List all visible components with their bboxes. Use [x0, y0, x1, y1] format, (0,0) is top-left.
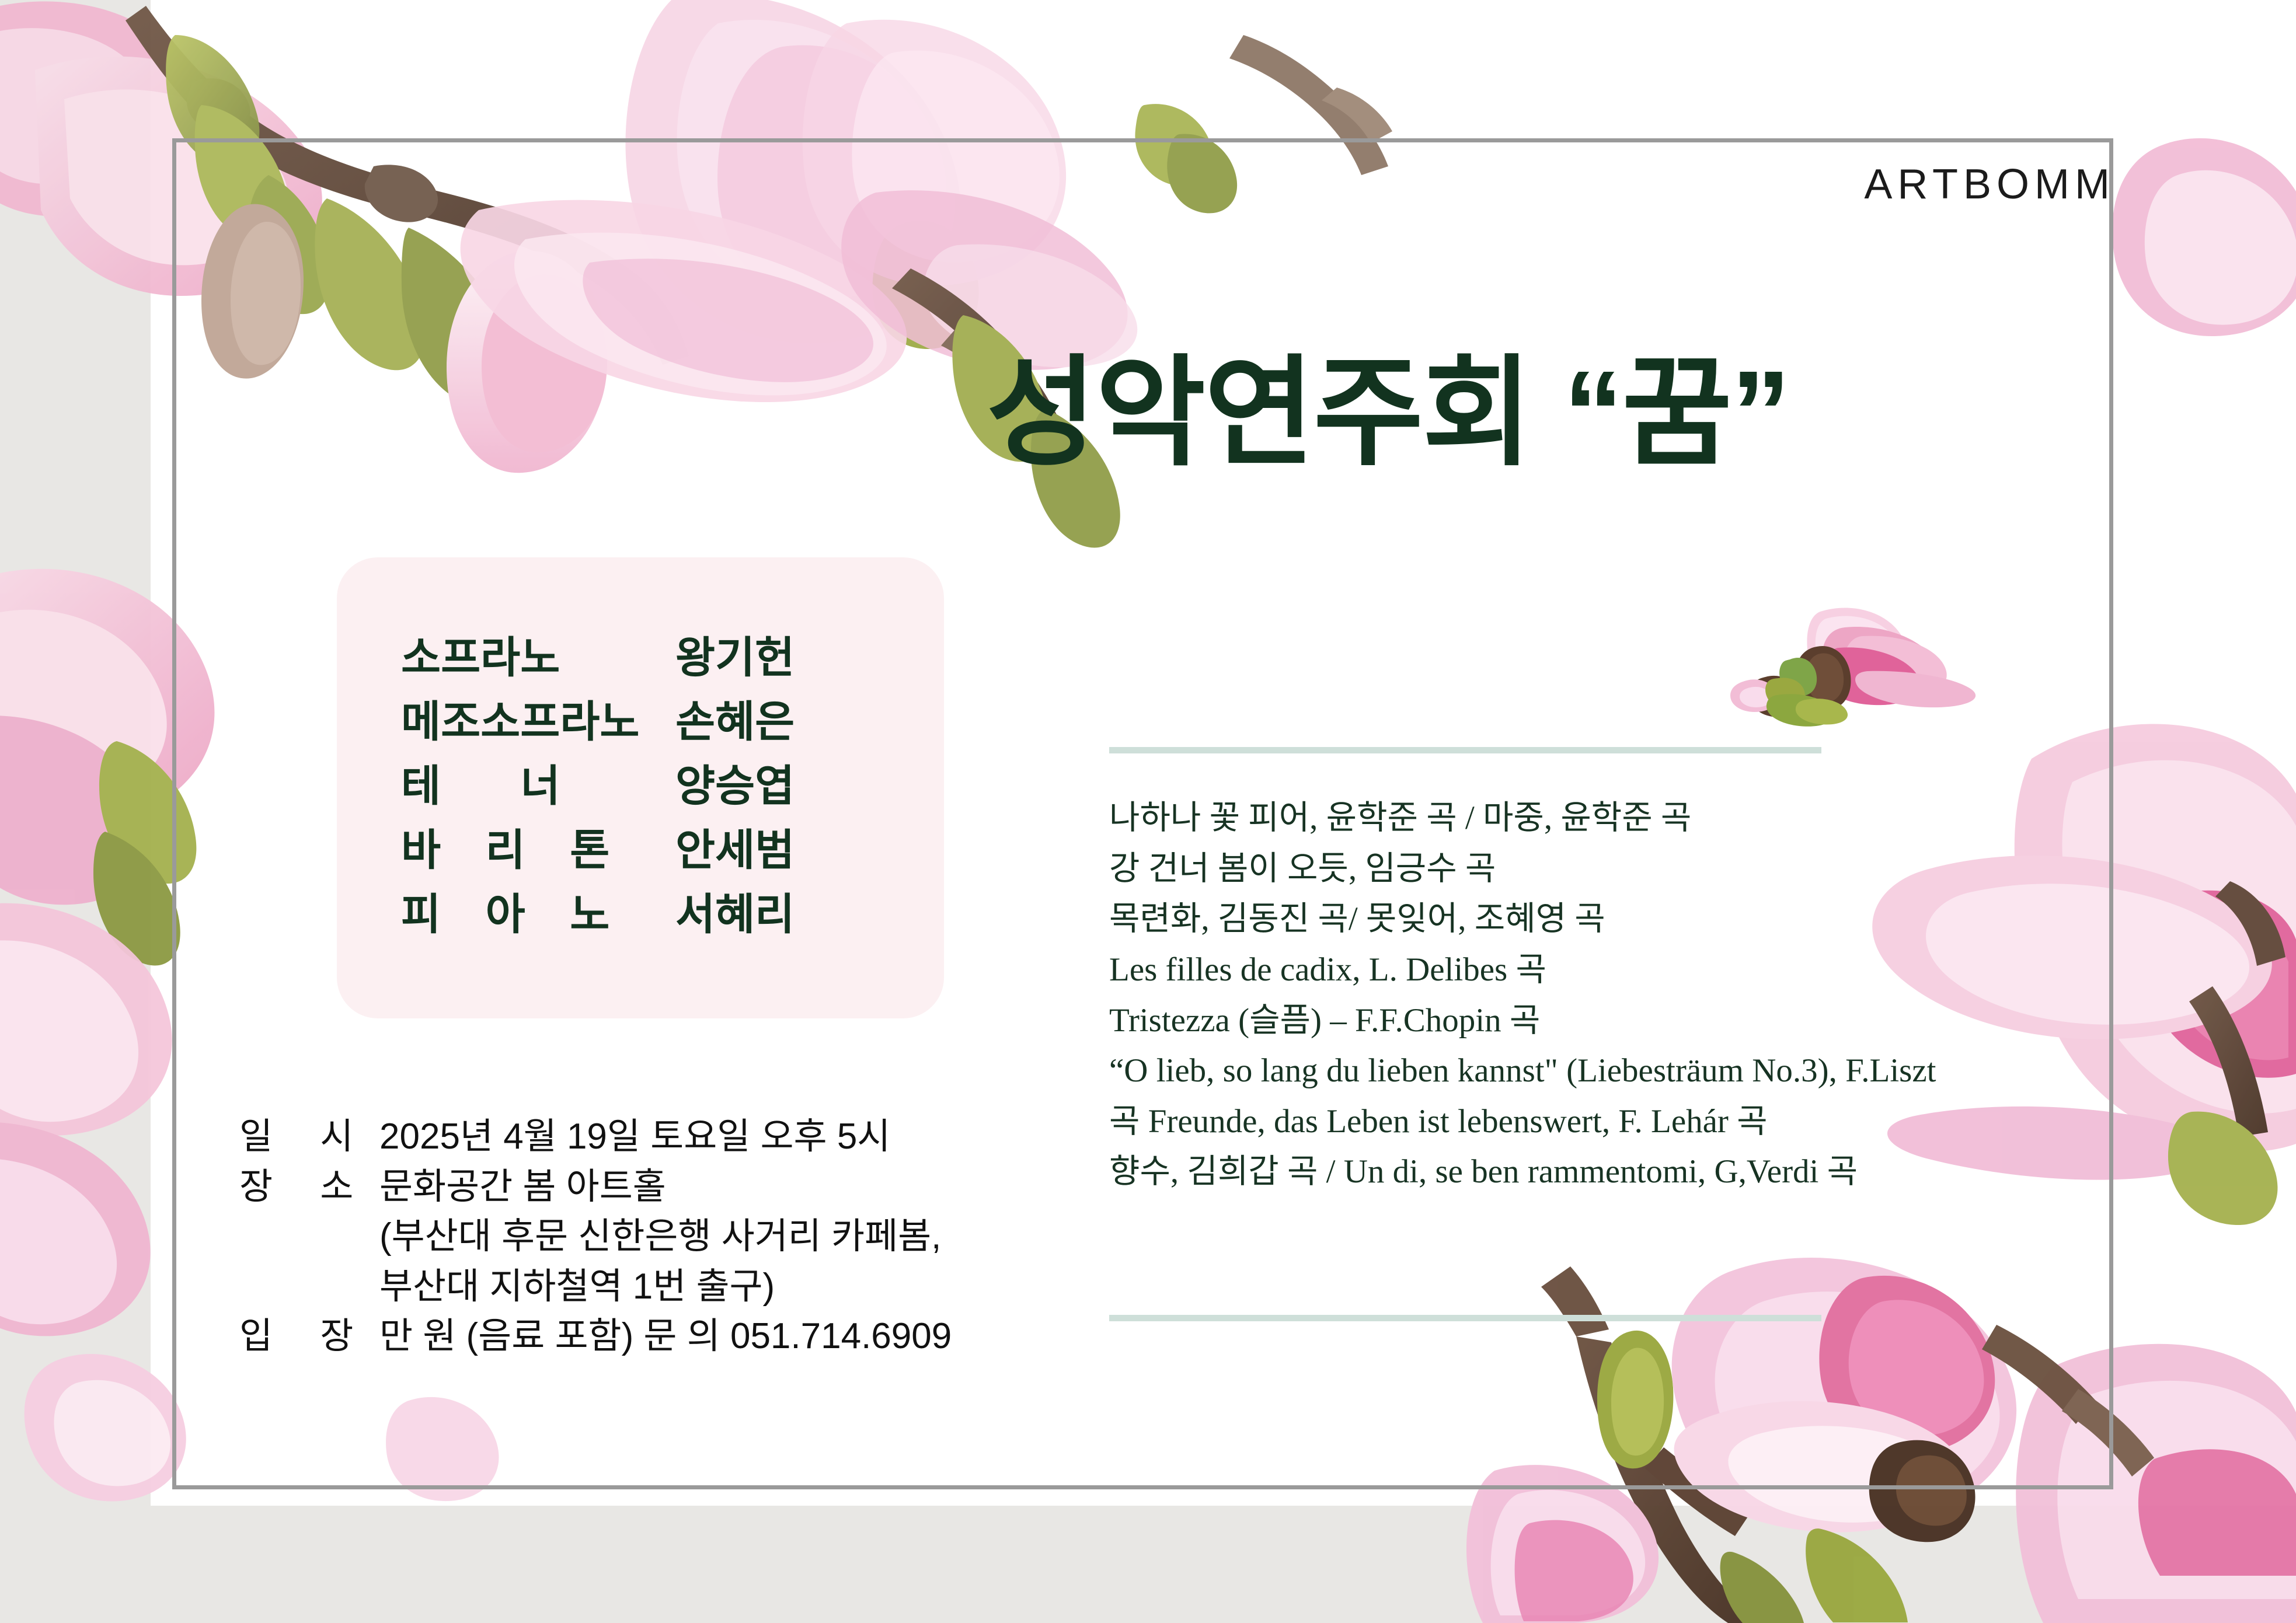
cast-role: 소프라노: [401, 623, 675, 685]
program-item: 강 건너 봄이 오듯, 임긍수 곡: [1109, 844, 2067, 895]
cast-row: 소프라노 왕기헌: [401, 623, 795, 687]
info-label-admission: 입 장: [239, 1311, 379, 1362]
program-item: 목련화, 김동진 곡/ 못잊어, 조혜영 곡: [1109, 894, 2067, 945]
info-value-date: 2025년 4월 19일 토요일 오후 5시: [379, 1112, 890, 1162]
cast-role: 피 아 노: [401, 879, 675, 942]
info-row-admission: 입 장 만 원 (음료 포함) 문 의 051.714.6909: [239, 1311, 952, 1362]
info-label-venue: 장 소: [239, 1162, 379, 1212]
program-section: 나하나 꽃 피어, 윤학준 곡 / 마중, 윤학준 곡 강 건너 봄이 오듯, …: [1109, 747, 2067, 1198]
poster-root: ARTBOMM 성악연주회 “꿈” 소프라노 왕기헌 메조소프라노 손혜은 테 …: [0, 0, 2296, 1623]
cast-list: 소프라노 왕기헌 메조소프라노 손혜은 테 너 양승엽 바 리 톤 안세범 피 …: [401, 623, 795, 944]
program-item: Les filles de cadix, L. Delibes 곡: [1109, 945, 2067, 996]
page-title: 성악연주회 “꿈”: [987, 350, 1790, 476]
program-bottom-divider: [1109, 1315, 1821, 1321]
program-item: Tristezza (슬픔) – F.F.Chopin 곡: [1109, 996, 2067, 1046]
cast-row: 테 너 양승엽: [401, 751, 795, 815]
cast-card: 소프라노 왕기헌 메조소프라노 손혜은 테 너 양승엽 바 리 톤 안세범 피 …: [337, 557, 944, 1018]
cast-name: 안세범: [675, 815, 795, 878]
program-list: 나하나 꽃 피어, 윤학준 곡 / 마중, 윤학준 곡 강 건너 봄이 오듯, …: [1109, 793, 2067, 1198]
cast-name: 양승엽: [675, 751, 795, 814]
program-top-divider: [1109, 747, 1821, 753]
cast-role: 테 너: [401, 751, 675, 814]
cast-role: 바 리 톤: [401, 815, 675, 878]
info-row-venue: 장 소 문화공간 봄 아트홀: [239, 1162, 952, 1212]
program-item: 곡 Freunde, das Leben ist lebenswert, F. …: [1109, 1097, 2067, 1147]
cast-role: 메조소프라노: [401, 687, 675, 749]
cast-row: 피 아 노 서혜리: [401, 879, 795, 944]
program-item: “O lieb, so lang du lieben kannst" (Lieb…: [1109, 1046, 2067, 1097]
program-item: 나하나 꽃 피어, 윤학준 곡 / 마중, 윤학준 곡: [1109, 793, 2067, 844]
cast-name: 서혜리: [675, 879, 795, 942]
info-row-date: 일 시 2025년 4월 19일 토요일 오후 5시: [239, 1112, 952, 1162]
info-label-date: 일 시: [239, 1112, 379, 1162]
info-value-admission: 만 원 (음료 포함) 문 의 051.714.6909: [379, 1311, 952, 1362]
info-value-venue: 문화공간 봄 아트홀: [379, 1162, 666, 1212]
artbomm-logo: ARTBOMM: [1864, 160, 2115, 208]
program-item: 향수, 김희갑 곡 / Un di, se ben rammentomi, G,…: [1109, 1147, 2067, 1198]
info-venue-sub-line-2: 부산대 지하철역 1번 출구): [379, 1262, 952, 1312]
cast-name: 왕기헌: [675, 623, 795, 685]
cast-name: 손혜은: [675, 687, 795, 749]
info-venue-sub-line-1: (부산대 후문 신한은행 사거리 카페봄,: [379, 1212, 952, 1262]
cast-row: 메조소프라노 손혜은: [401, 687, 795, 751]
cast-row: 바 리 톤 안세범: [401, 815, 795, 879]
event-info: 일 시 2025년 4월 19일 토요일 오후 5시 장 소 문화공간 봄 아트…: [239, 1112, 952, 1362]
